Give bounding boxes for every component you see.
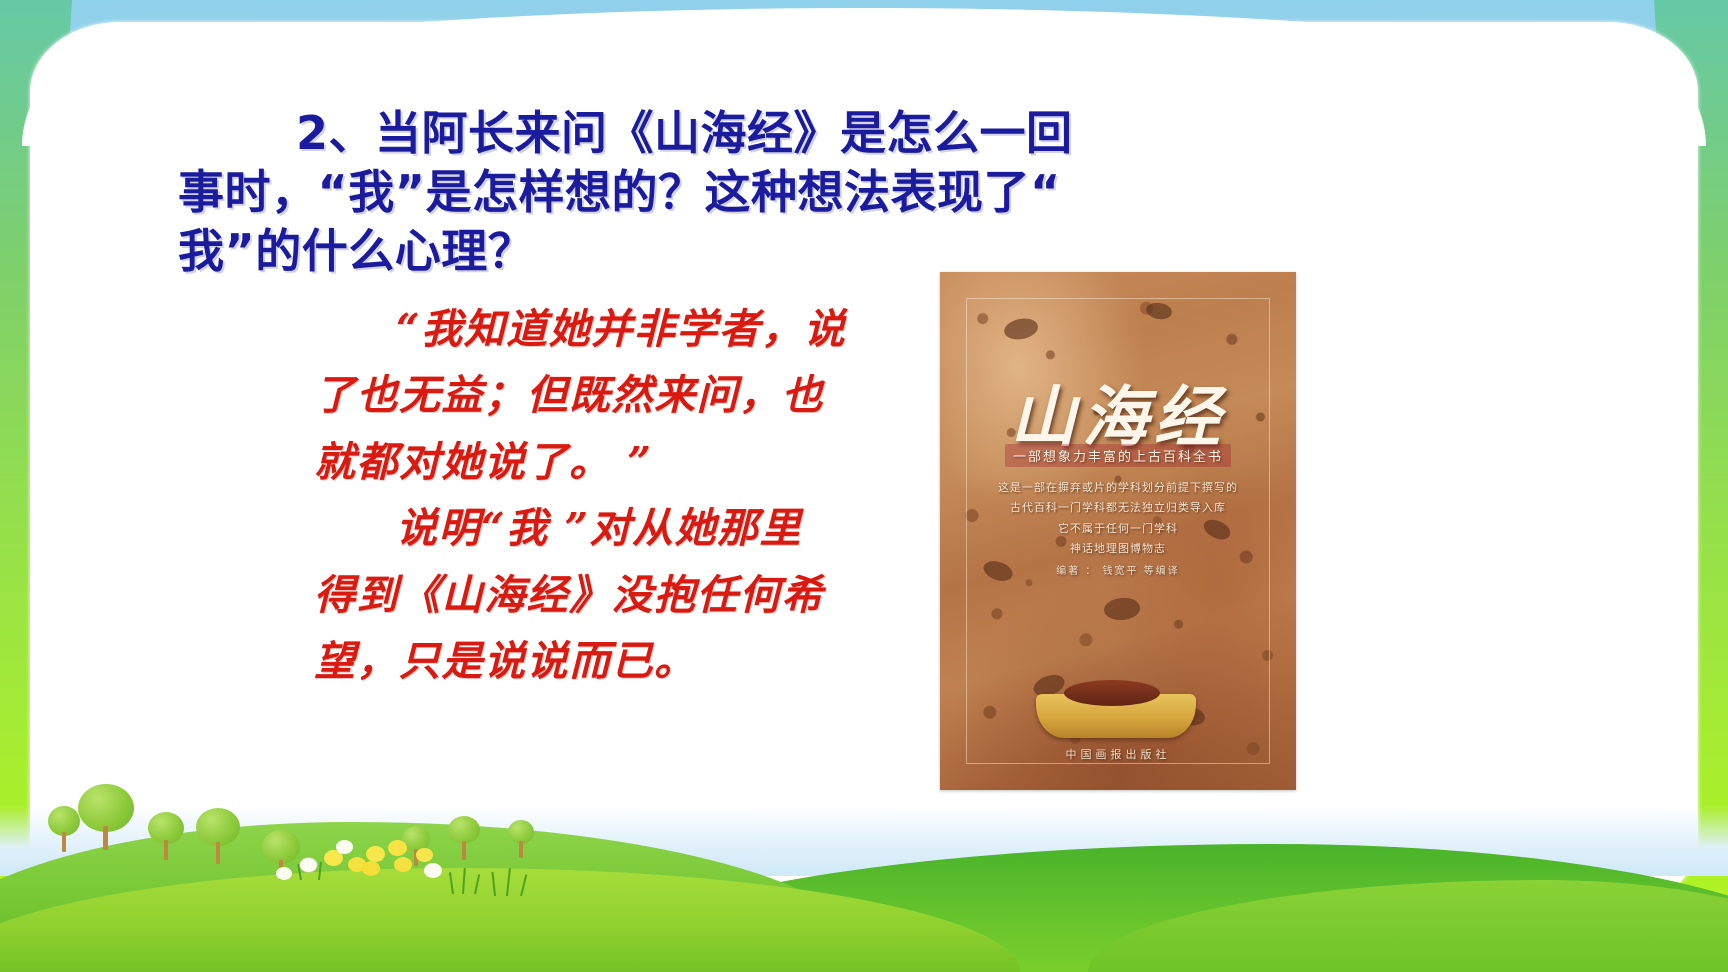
meadow-decoration	[0, 742, 1728, 972]
answer-body: “我知道她并非学者，说 了也无益；但既然来问，也 就都对她说了。 ” 说明“我 …	[314, 296, 924, 694]
flower-yellow-icon	[416, 848, 433, 862]
book-tagline-text: 一部想象力丰富的上古百科全书	[1005, 444, 1231, 467]
shanhaijing-book-cover-image: 山海经 一部想象力丰富的上古百科全书 这是一部在摒弃或片的学科划分前提下撰写的 …	[940, 272, 1296, 790]
body-line-5: 得到《山海经》没抱任何希	[314, 562, 924, 628]
book-blurb-line: 古代百科一门学科都无法独立归类导入库	[974, 498, 1262, 518]
book-blurb: 这是一部在摒弃或片的学科划分前提下撰写的 古代百科一门学科都无法独立归类导入库 …	[974, 478, 1262, 559]
tree-icon	[448, 816, 482, 860]
book-blurb-line: 这是一部在摒弃或片的学科划分前提下撰写的	[974, 478, 1262, 498]
flower-yellow-icon	[388, 840, 407, 856]
flower-white-icon	[336, 840, 353, 854]
title-line-1: 2、当阿长来问《山海经》是怎么一回	[178, 104, 1288, 163]
book-blurb-line: 神话地理图博物志	[974, 539, 1262, 559]
tree-icon	[48, 806, 82, 854]
body-line-3: 就都对她说了。 ”	[314, 429, 924, 495]
tree-icon	[508, 820, 536, 858]
flower-yellow-icon	[394, 857, 412, 872]
flower-white-icon	[424, 863, 442, 878]
tree-icon	[148, 812, 186, 860]
body-line-6: 望，只是说说而已。	[314, 628, 924, 694]
slide-root: 2、当阿长来问《山海经》是怎么一回 事时，“我”是怎样想的？这种想法表现了“ 我…	[0, 0, 1728, 972]
body-line-4: 说明“我 ”对从她那里	[314, 495, 924, 561]
flower-white-icon	[300, 858, 317, 872]
flower-yellow-icon	[366, 846, 385, 862]
book-author-text: 编著 ： 钱宽平 等编译	[940, 562, 1296, 577]
title-line-2: 事时，“我”是怎样想的？这种想法表现了“	[178, 163, 1288, 222]
body-line-2: 了也无益；但既然来问，也	[314, 362, 924, 428]
tree-icon	[78, 784, 136, 850]
body-line-1: “我知道她并非学者，说	[314, 296, 924, 362]
cover-bronze-vessel-icon	[1036, 694, 1196, 738]
book-tagline: 一部想象力丰富的上古百科全书	[940, 444, 1296, 467]
tree-icon	[196, 808, 242, 864]
flower-yellow-icon	[362, 861, 380, 876]
book-blurb-line: 它不属于任何一门学科	[974, 519, 1262, 539]
question-title: 2、当阿长来问《山海经》是怎么一回 事时，“我”是怎样想的？这种想法表现了“ 我…	[178, 104, 1288, 281]
flower-white-icon	[276, 867, 292, 880]
